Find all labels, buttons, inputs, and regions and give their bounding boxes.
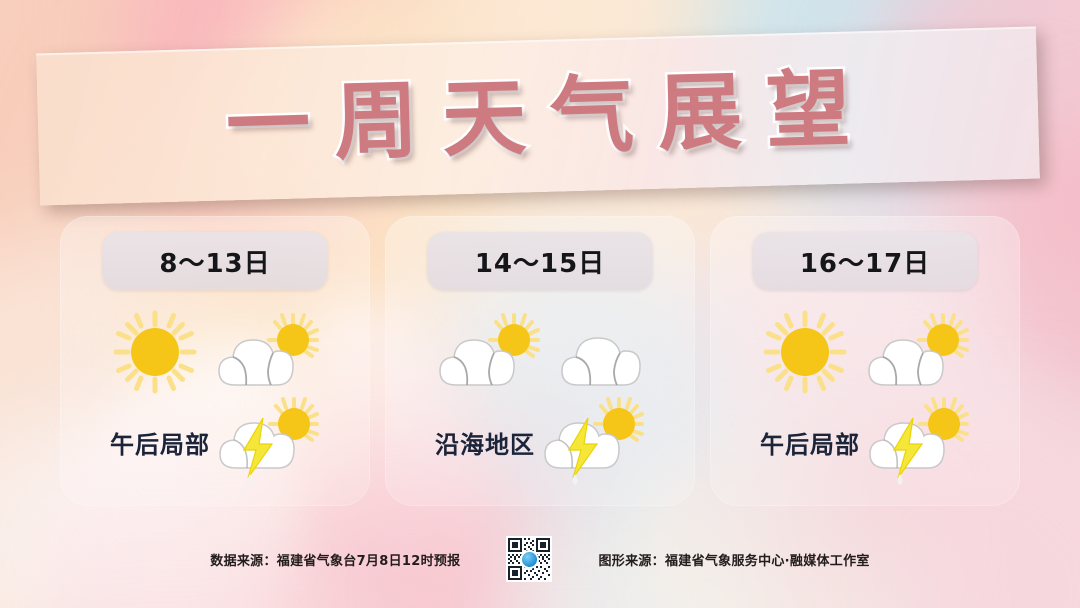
date-range-label: 8～13日 xyxy=(159,243,270,280)
title-banner: 一周天气展望 xyxy=(36,27,1040,206)
date-range-pill: 8～13日 xyxy=(103,232,328,290)
date-range-label: 16～17日 xyxy=(800,243,930,280)
date-range-pill: 16～17日 xyxy=(753,232,978,290)
qr-code[interactable] xyxy=(506,536,552,582)
footer: 数据来源：福建省气象台7月8日12时预报 xyxy=(0,536,1080,582)
qr-center-logo xyxy=(522,552,537,567)
thunderstorm-sun-icon xyxy=(214,394,320,490)
forecast-card-row: 8～13日 xyxy=(60,216,1020,506)
partly-cloudy-icon xyxy=(434,309,542,395)
thunderstorm-sun-icon xyxy=(864,394,970,490)
secondary-weather-row: 午后局部 xyxy=(60,402,370,482)
primary-weather-row xyxy=(385,312,695,392)
partly-cloudy-icon xyxy=(863,309,971,395)
forecast-card: 8～13日 xyxy=(60,216,370,506)
date-range-pill: 14～15日 xyxy=(428,232,653,290)
thunderstorm-sun-icon xyxy=(539,394,645,490)
weather-poster: 一周天气展望 8～13日 xyxy=(0,0,1080,608)
primary-weather-row xyxy=(60,312,370,392)
forecast-card: 16～17日 xyxy=(710,216,1020,506)
forecast-card: 14～15日 xyxy=(385,216,695,506)
cloudy-icon xyxy=(554,309,646,395)
condition-label: 午后局部 xyxy=(760,425,860,460)
secondary-weather-row: 午后局部 xyxy=(710,402,1020,482)
page-title: 一周天气展望 xyxy=(37,61,1039,172)
condition-label: 午后局部 xyxy=(110,425,210,460)
primary-weather-row xyxy=(710,312,1020,392)
condition-label: 沿海地区 xyxy=(435,425,535,460)
secondary-weather-row: 沿海地区 xyxy=(385,402,695,482)
partly-cloudy-icon xyxy=(213,309,321,395)
date-range-label: 14～15日 xyxy=(475,243,605,280)
sunny-icon xyxy=(759,306,851,398)
graphic-source-text: 图形来源：福建省气象服务中心·融媒体工作室 xyxy=(598,550,869,569)
data-source-text: 数据来源：福建省气象台7月8日12时预报 xyxy=(210,550,460,569)
sunny-icon xyxy=(109,306,201,398)
